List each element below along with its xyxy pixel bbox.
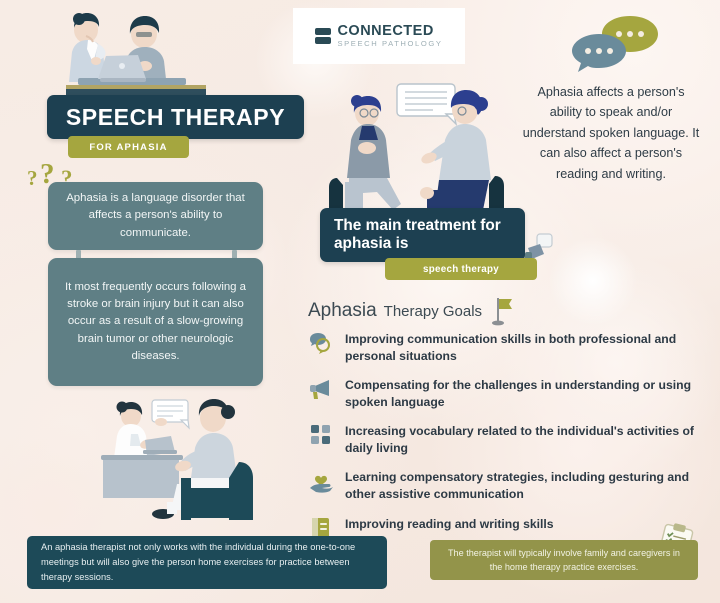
treatment-badge-text: speech therapy	[423, 264, 499, 275]
goal-item-text: Improving communication skills in both p…	[345, 330, 708, 365]
goals-heading-secondary: Therapy Goals	[384, 303, 482, 320]
therapist-and-client-in-chairs-illustration	[315, 78, 515, 226]
megaphone-icon	[308, 376, 334, 402]
goal-item: Improving communication skills in both p…	[308, 330, 708, 365]
info-card-text: Aphasia is a language disorder that affe…	[48, 190, 263, 242]
banner-left-text: An aphasia therapist not only works with…	[27, 540, 387, 584]
chat-bubbles-icon	[308, 330, 334, 356]
page-title: SPEECH THERAPY	[47, 95, 304, 139]
goal-item-text: Compensating for the challenges in under…	[345, 376, 708, 411]
goals-heading: Aphasia Therapy Goals	[308, 300, 482, 322]
hand-heart-icon	[308, 468, 334, 494]
title-subtitle-badge: FOR APHASIA	[68, 136, 189, 158]
therapist-at-desk-with-seated-client-illustration	[95, 392, 285, 527]
goal-item: Increasing vocabulary related to the ind…	[308, 422, 708, 457]
background-blob	[548, 236, 638, 326]
info-card-definition: Aphasia is a language disorder that affe…	[48, 182, 263, 250]
page-title-text: SPEECH THERAPY	[66, 104, 285, 131]
logo-sub-text: SPEECH PATHOLOGY	[337, 40, 442, 48]
connected-blocks-icon	[315, 28, 331, 44]
grid-squares-icon	[308, 422, 334, 448]
goal-item-text: Learning compensatory strategies, includ…	[345, 468, 708, 503]
speech-bubbles-icon	[572, 12, 682, 74]
two-people-at-desk-with-laptop-illustration	[48, 8, 218, 108]
flag-icon	[487, 296, 513, 326]
banner-left: An aphasia therapist not only works with…	[27, 536, 387, 589]
info-card-causes: It most frequently occurs following a st…	[48, 258, 263, 386]
logo-main-text: CONNECTED	[337, 24, 442, 39]
intro-paragraph: Aphasia affects a person's ability to sp…	[520, 82, 702, 184]
banner-right-text: The therapist will typically involve fam…	[430, 546, 698, 574]
goal-item-text: Increasing vocabulary related to the ind…	[345, 422, 708, 457]
goals-list: Improving communication skills in both p…	[308, 330, 708, 552]
question-mark-decoration: ?	[27, 166, 38, 191]
brand-logo: CONNECTED SPEECH PATHOLOGY	[293, 8, 465, 64]
goals-heading-primary: Aphasia	[308, 300, 377, 322]
banner-right: The therapist will typically involve fam…	[430, 540, 698, 580]
goal-item-text: Improving reading and writing skills	[345, 515, 554, 533]
info-card-text: It most frequently occurs following a st…	[48, 279, 263, 366]
goal-item: Compensating for the challenges in under…	[308, 376, 708, 411]
treatment-heading-text: The main treatment for aphasia is	[334, 217, 525, 253]
title-subtitle-text: FOR APHASIA	[89, 142, 167, 153]
goal-item: Learning compensatory strategies, includ…	[308, 468, 708, 503]
infographic-canvas: SPEECH THERAPY FOR APHASIA CONNECTED SPE…	[0, 0, 720, 603]
treatment-badge: speech therapy	[385, 258, 537, 280]
treatment-heading-box: The main treatment for aphasia is	[320, 208, 525, 262]
